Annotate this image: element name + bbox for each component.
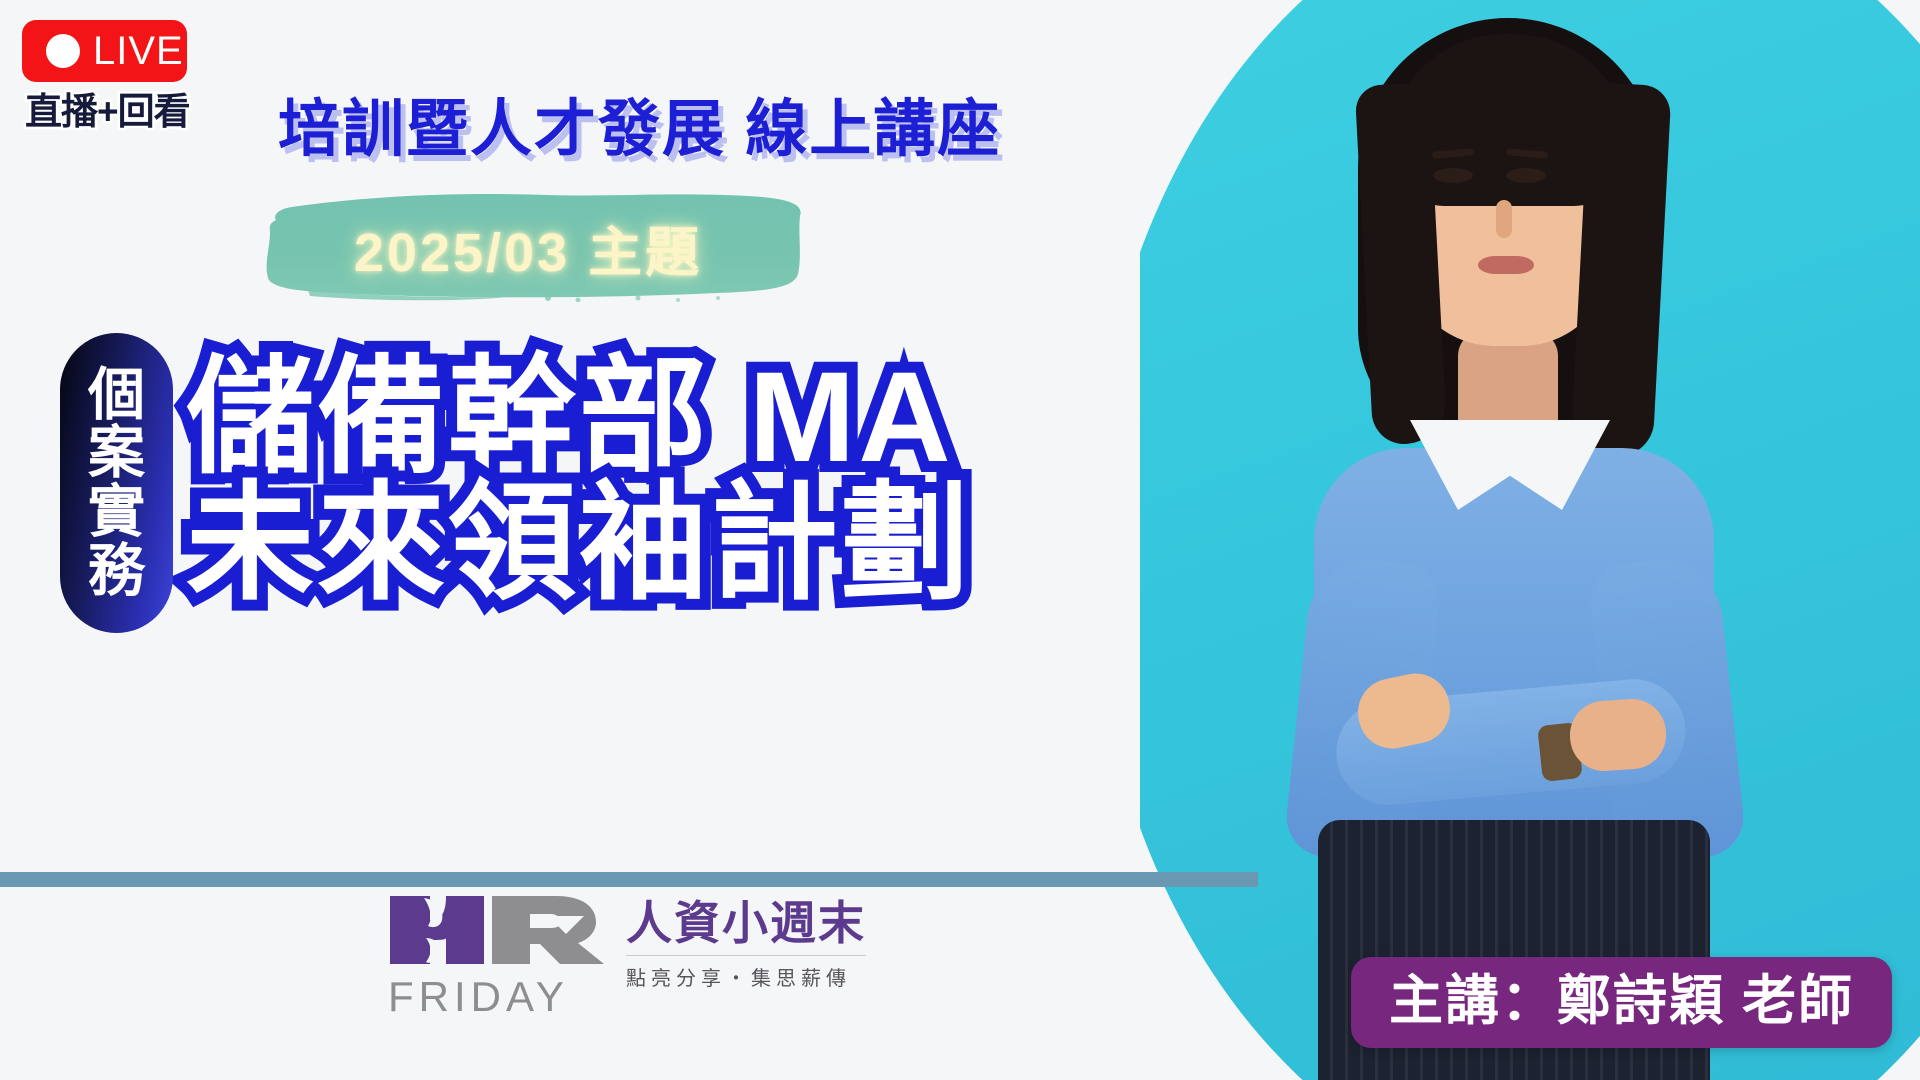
category-badge-case-practice: 個 案 實 務 xyxy=(60,333,173,633)
brand-name-cn: 人資小週末 xyxy=(626,898,866,949)
record-dot-icon xyxy=(46,34,80,68)
brand-logo: FRIDAY 人資小週末 點亮分享・集思薪傳 xyxy=(388,894,866,1018)
date-brush-band: 2025/03 主題 xyxy=(248,186,808,302)
logo-mark: FRIDAY xyxy=(388,894,610,1018)
brand-tagline: 點亮分享・集思薪傳 xyxy=(626,955,866,991)
nose xyxy=(1496,200,1512,238)
live-label: LIVE xyxy=(93,31,184,71)
headline-line-2: 未來領袖計劃 xyxy=(186,478,972,610)
badge-char-1: 個 xyxy=(88,366,145,425)
headline-line-1: 儲備幹部 MA xyxy=(186,352,972,484)
badge-char-4: 務 xyxy=(88,542,145,601)
replay-label: 直播+回看 xyxy=(25,92,190,133)
badge-char-2: 案 xyxy=(88,424,145,483)
mouth xyxy=(1478,256,1534,274)
horizontal-divider xyxy=(0,872,1258,887)
main-headline: 儲備幹部 MA 未來領袖計劃 xyxy=(186,352,972,610)
badge-char-3: 實 xyxy=(88,483,145,542)
live-badge-group: LIVE 直播+回看 xyxy=(22,20,190,133)
speaker-portrait-photo xyxy=(1240,0,1800,1080)
hr-monogram-icon xyxy=(388,894,610,966)
eye-left xyxy=(1433,168,1473,183)
theme-date-label: 2025/03 主題 xyxy=(248,208,808,287)
speaker-name-banner: 主講：鄭詩穎 老師 xyxy=(1351,957,1892,1048)
eye-right xyxy=(1506,168,1546,183)
speaker-visual-area xyxy=(1140,0,1920,1080)
logo-wordmark: 人資小週末 點亮分享・集思薪傳 xyxy=(626,894,866,991)
page-title: 培訓暨人才發展 線上講座 xyxy=(278,78,1001,168)
live-badge: LIVE xyxy=(22,20,187,82)
logo-friday-text: FRIDAY xyxy=(388,976,610,1018)
speaker-name-label: 主講：鄭詩穎 老師 xyxy=(1389,971,1854,1031)
